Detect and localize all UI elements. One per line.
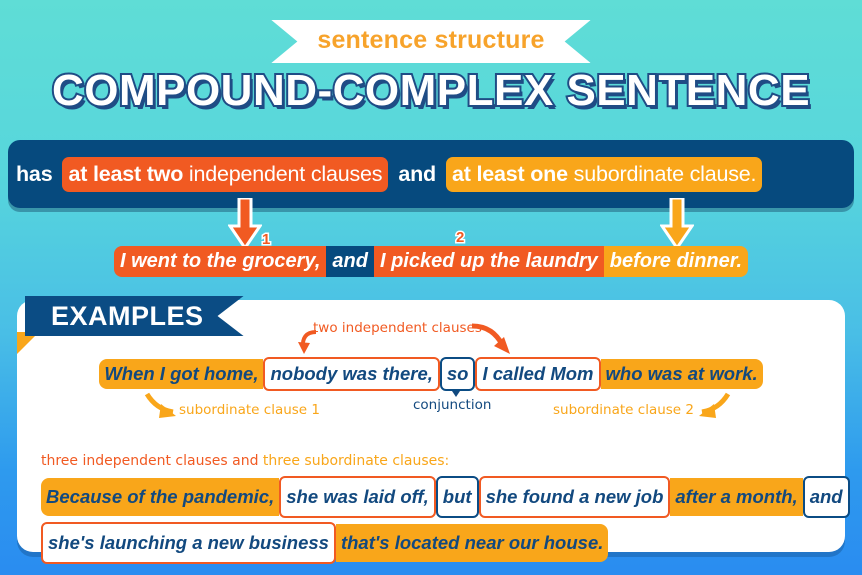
marker-number-2: 2 xyxy=(456,229,464,246)
annotation-arrow-right-independent-icon xyxy=(470,322,518,358)
page-title: COMPOUND-COMPLEX SENTENCE xyxy=(0,66,862,116)
annotation-arrow-left-independent-icon xyxy=(296,330,322,356)
example-1-sentence: When I got home,nobody was there,soI cal… xyxy=(0,357,862,391)
demo-clause-2: I picked up the laundry xyxy=(374,246,604,277)
annotation-subordinate-clause-2: subordinate clause 2 xyxy=(553,402,694,418)
definition-connector: and xyxy=(398,162,436,187)
example-2-caption-red: three independent clauses and xyxy=(41,453,258,469)
annotation-subordinate-clause-1: subordinate clause 1 xyxy=(179,402,320,418)
example-2-subordinate-1: Because of the pandemic, xyxy=(41,478,279,516)
definition-independent-bold: at least two xyxy=(68,162,183,186)
definition-lead: has xyxy=(16,162,52,187)
demo-conjunction: and xyxy=(326,246,374,277)
annotation-conjunction: conjunction xyxy=(413,397,491,413)
definition-subordinate-plain: subordinate clause. xyxy=(568,162,756,186)
example-2-sentence: Because of the pandemic,she was laid off… xyxy=(41,476,850,564)
example-2-independent-3: she's launching a new business xyxy=(41,522,336,564)
example-2-conjunction-2: and xyxy=(803,476,850,518)
examples-banner: EXAMPLES xyxy=(25,296,244,336)
example-2-subordinate-3: that's located near our house. xyxy=(336,524,608,562)
example-2-independent-1: she was laid off, xyxy=(279,476,436,518)
example-2-caption: three independent clauses and three subo… xyxy=(41,453,449,469)
example-1-subordinate-2: who was at work. xyxy=(601,359,763,389)
definition-bar: has at least two independent clauses and… xyxy=(8,140,854,208)
annotation-two-independent-clauses: two independent clauses xyxy=(313,320,482,336)
example-2-caption-yellow: three subordinate clauses: xyxy=(263,453,449,469)
definition-independent-highlight: at least two independent clauses xyxy=(62,157,388,192)
example-2-conjunction-1: but xyxy=(436,476,479,518)
definition-subordinate-highlight: at least one subordinate clause. xyxy=(446,157,762,192)
annotation-arrow-subordinate-1-icon xyxy=(143,392,181,422)
sentence-structure-ribbon: sentence structure xyxy=(271,20,590,63)
ribbon-label: sentence structure xyxy=(317,26,544,55)
example-1-conjunction: so xyxy=(440,357,476,391)
annotation-arrow-subordinate-2-icon xyxy=(694,392,732,422)
example-2-subordinate-2: after a month, xyxy=(670,478,802,516)
example-1-subordinate-1: When I got home, xyxy=(99,359,263,389)
demo-subordinate-clause: before dinner. xyxy=(604,246,748,277)
example-1-independent-1: nobody was there, xyxy=(263,357,439,391)
example-1-independent-2: I called Mom xyxy=(475,357,600,391)
demo-clause-1: I went to the grocery, xyxy=(114,246,326,277)
example-2-independent-2: she found a new job xyxy=(479,476,671,518)
definition-subordinate-bold: at least one xyxy=(452,162,568,186)
examples-banner-label: EXAMPLES xyxy=(51,301,204,332)
demo-sentence: I went to the grocery,andI picked up the… xyxy=(0,246,862,277)
definition-independent-plain: independent clauses xyxy=(183,162,382,186)
